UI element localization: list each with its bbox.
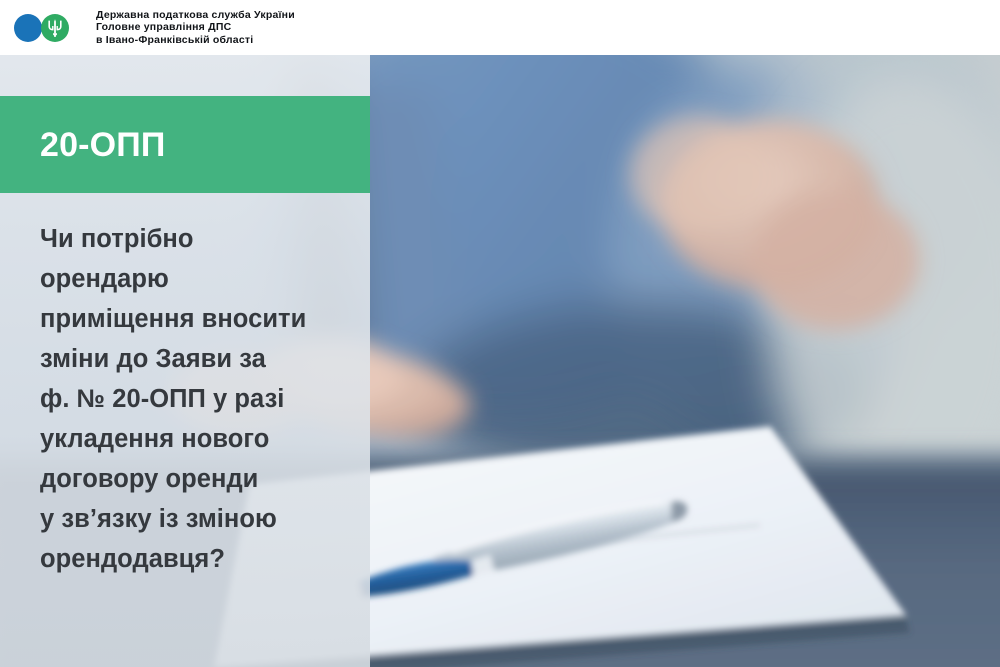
question-line-7: договору оренди [40, 459, 385, 499]
question-line-4: зміни до Заяви за [40, 339, 385, 379]
question-line-9: орендодавця? [40, 539, 385, 579]
question-line-2: орендарю [40, 259, 385, 299]
logo-blue-circle-icon [14, 14, 42, 42]
topic-banner: 20-ОПП [0, 96, 370, 193]
question-text: Чи потрібно орендарю приміщення вносити … [40, 219, 385, 579]
org-line-3: в Івано-Франківській області [96, 34, 295, 47]
question-line-8: у зв’язку із зміною [40, 499, 385, 539]
question-line-3: приміщення вносити [40, 299, 385, 339]
org-line-1: Державна податкова служба України [96, 9, 295, 22]
question-line-5: ф. № 20-ОПП у разі [40, 379, 385, 419]
header-bar: Державна податкова служба України Головн… [0, 0, 1000, 55]
dps-logo [14, 13, 80, 43]
org-line-2: Головне управління ДПС [96, 21, 295, 34]
banner-title: 20-ОПП [40, 128, 165, 162]
ukrainian-trident-icon [47, 18, 63, 38]
question-line-1: Чи потрібно [40, 219, 385, 259]
organisation-name: Державна податкова служба України Головн… [96, 9, 295, 47]
question-line-6: укладення нового [40, 419, 385, 459]
poster-root: 20-ОПП Чи потрібно орендарю приміщення в… [0, 0, 1000, 667]
